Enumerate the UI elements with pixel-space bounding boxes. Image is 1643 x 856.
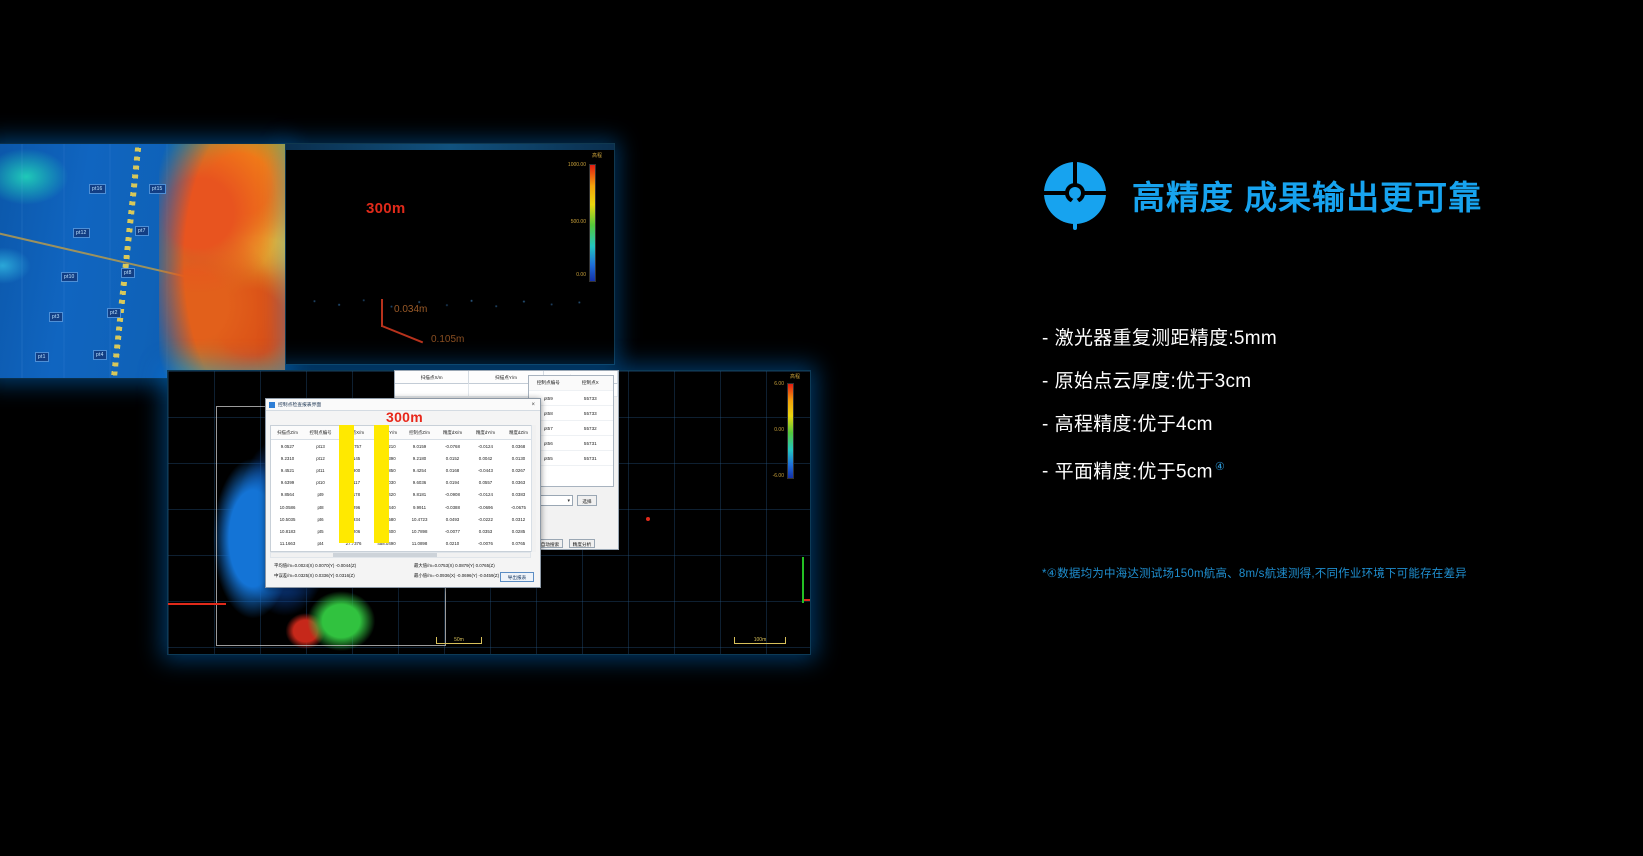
axis-x-red [167,603,226,605]
cell-cp-z: 9.8181 [403,492,436,497]
spec-text: 高程精度:优于4cm [1055,414,1213,435]
cell-cp-z: 10.7898 [403,529,436,534]
pc-label: pt12 [73,228,90,238]
cell-dy: -0.0124 [469,492,502,497]
pc-label: pt4 [93,350,107,360]
th-cp-id: 控制点编号 [304,426,337,439]
cell-dx: -0.0077 [436,529,469,534]
measurement-label-1: 0.034m [394,304,427,315]
cell-dx: 0.0168 [436,468,469,473]
cell-cp-z: 9.6036 [403,480,436,485]
leader-line-vertical [381,299,383,327]
overlay-distance-label: 300m [386,409,423,425]
table-scrollbar-horizontal[interactable] [270,552,531,558]
chevron-down-icon[interactable]: ▾ [567,498,570,504]
workspace-colorbar [787,383,794,479]
close-icon[interactable]: × [531,402,537,408]
stat-median: 中误差/m=0.0325(X) 0.0336(Y) 0.0316(Z) [274,573,355,579]
cell-dx: 0.0194 [436,480,469,485]
cell-cp-z: 11.0898 [403,541,436,546]
cell-dx: -0.0388 [436,505,469,510]
elevation-colorbar [589,164,596,282]
cell-cp-id: pt5 [304,529,337,534]
cp-x: 55731 [568,456,613,461]
list-item[interactable]: pt57 55732 [529,421,613,436]
col-cp-id: 控制点编号 [529,380,568,386]
cell-scan-z: 10.5035 [271,517,304,522]
cp-x: 55731 [568,441,613,446]
cell-scan-z: 10.8183 [271,529,304,534]
th-dx: 精度dX/m [436,426,469,439]
bullet-dash: - [1042,414,1049,435]
scalebar-left: 50m [436,637,482,644]
imagery-cluster: pt16 pt15 pt12 pt7 pt10 pt8 pt3 pt2 pt1 … [0,0,900,856]
content-column: 高精度 成果输出更可靠 -激光器重复测距精度:5mm -原始点云厚度:优于3cm… [1040,0,1600,856]
cell-dx: -0.0908 [436,492,469,497]
slide-root: pt16 pt15 pt12 pt7 pt10 pt8 pt3 pt2 pt1 … [0,0,1643,856]
th-dy: 精度dY/m [469,426,502,439]
spec-text: 原始点云厚度:优于3cm [1055,371,1252,392]
table-row[interactable]: 9.0527 pt13 76.9757 843.1210 9.0159 -0.0… [271,440,535,452]
bullet-dash: - [1042,371,1049,392]
bullet-dash: - [1042,328,1049,349]
list-item[interactable]: pt58 55733 [529,406,613,421]
cell-dy: -0.0222 [469,517,502,522]
cell-dy: 0.0353 [469,529,502,534]
table-row[interactable]: 9.4521 pt11 5.8900 365.2850 9.4254 0.016… [271,464,535,476]
cell-scan-z: 9.6399 [271,480,304,485]
cell-dy: -0.0443 [469,468,502,473]
control-point-report-dialog[interactable]: 控制点检查报表界面 × 300m 扫描点Z/m 控制点编号 控制点X/m 控制点… [265,398,541,588]
workspace-colorbar-title: 高程 [790,373,800,380]
cell-scan-z: 9.8564 [271,492,304,497]
spec-item-cloud-thickness: -原始点云厚度:优于3cm [1042,365,1277,398]
cp-x: 55733 [568,396,613,401]
footnote-marker: ④ [1215,461,1225,473]
pc-label: pt7 [135,226,149,236]
cell-cp-z: 9.4254 [403,468,436,473]
footnote-text: *④数据均为中海达测试场150m航高、8m/s航速测得,不同作业环境下可能存在差… [1042,565,1467,581]
pc-label: pt3 [49,312,63,322]
highlight-column-cp-y [374,425,389,543]
list-item[interactable]: pt56 55731 [529,436,613,451]
highlight-column-cp-x [339,425,354,543]
cell-dx: 0.0210 [436,541,469,546]
cp-x: 55733 [568,411,613,416]
measurement-label-2: 0.105m [431,334,464,345]
terrain-elevation-layer [159,143,286,379]
pc-label: pt1 [35,352,49,362]
cell-scan-z: 11.1663 [271,541,304,546]
th-scan-z: 扫描点Z/m [271,426,304,439]
select-button[interactable]: 选择 [577,495,597,506]
table-scrollbar-vertical[interactable] [531,425,536,552]
col-cp-x: 控制点X [568,380,613,386]
spec-item-laser-range: -激光器重复测距精度:5mm [1042,322,1277,355]
distance-label-300m: 300m [366,200,406,217]
pc-label: pt16 [89,184,106,194]
leader-line-diagonal [382,325,424,343]
bullet-dash: - [1042,461,1049,482]
point-noise-band [296,294,604,312]
accuracy-analysis-button[interactable]: 精度分析 [569,539,595,548]
col-scan-x: 扫描点X/m [395,371,469,384]
table-row[interactable]: 9.2310 pt12 1.4145 354.3390 9.2180 0.015… [271,452,535,464]
cell-dy: 0.0557 [469,480,502,485]
colorbar-tick: 0.00 [576,272,586,278]
cell-cp-z: 9.0159 [403,444,436,449]
spec-item-planar-accuracy: -平面精度:优于5cm④ [1042,451,1277,488]
cell-cp-id: pt13 [304,444,337,449]
spec-item-elevation-accuracy: -高程精度:优于4cm [1042,408,1277,441]
axis-y-green [167,559,168,607]
cell-cp-id: pt12 [304,456,337,461]
workspace-colorbar-tick: 0.00 [774,427,784,433]
axis-y-green-right [802,557,804,603]
header-row: 高精度 成果输出更可靠 [1040,160,1482,230]
cell-dx: -0.0768 [436,444,469,449]
stat-mean: 平均值/m=0.0024(X) 0.0070(Y) -0.0044(Z) [274,563,356,569]
table-header-row: 扫描点Z/m 控制点编号 控制点X/m 控制点Y/m 控制点Z/m 精度dX/m… [271,426,535,440]
pointcloud-overview-panel: pt16 pt15 pt12 pt7 pt10 pt8 pt3 pt2 pt1 … [0,143,286,379]
cell-dy: 0.0042 [469,456,502,461]
panel-titlebar [286,144,614,150]
cell-cp-z: 9.9911 [403,505,436,510]
cell-dy: -0.0124 [469,444,502,449]
cell-scan-z: 9.4521 [271,468,304,473]
table-row[interactable]: 9.8564 pt9 5.1178 387.4420 9.8181 -0.090… [271,489,535,501]
pc-label: pt2 [107,308,121,318]
cp-x: 55732 [568,426,613,431]
table-row[interactable]: 9.6399 pt10 0.2117 376.0030 9.6036 0.019… [271,477,535,489]
list-item[interactable]: pt59 55733 [529,391,613,406]
cell-scan-z: 9.0527 [271,444,304,449]
cell-cp-id: pt8 [304,505,337,510]
cell-dx: 0.0152 [436,456,469,461]
colorbar-tick: 1000.00 [568,162,586,168]
cell-dx: 0.0493 [436,517,469,522]
workspace-colorbar-tick: -6.00 [773,473,784,479]
cell-cp-id: pt9 [304,492,337,497]
cell-cp-id: pt10 [304,480,337,485]
cell-cp-id: pt11 [304,468,337,473]
profile-view-panel: 300m 0.034m 0.105m 高程 1000.00 500.00 0.0… [285,143,615,365]
cell-cp-id: pt4 [304,541,337,546]
cell-cp-z: 9.2180 [403,456,436,461]
spec-list: -激光器重复测距精度:5mm -原始点云厚度:优于3cm -高程精度:优于4cm… [1042,322,1277,498]
workspace-colorbar-tick: 6.00 [774,381,784,387]
app-icon [269,402,275,408]
th-cp-z: 控制点Z/m [403,426,436,439]
spec-text: 激光器重复测距精度:5mm [1055,328,1277,349]
list-item[interactable]: pt55 55731 [529,451,613,466]
cell-cp-z: 10.4723 [403,517,436,522]
table-row[interactable]: 10.8183 pt5 9.9206 441.9400 10.7898 -0.0… [271,525,535,537]
table-row[interactable]: 10.0586 pt8 9.8296 398.3440 9.9911 -0.03… [271,501,535,513]
scalebar-right: 100m [734,637,786,644]
report-table[interactable]: 扫描点Z/m 控制点编号 控制点X/m 控制点Y/m 控制点Z/m 精度dX/m… [270,425,536,552]
pc-label: pt15 [149,184,166,194]
control-point-list-header: 控制点编号 控制点X [529,376,613,391]
colorbar-title: 高程 [592,152,602,159]
page-title: 高精度 成果输出更可靠 [1132,171,1482,219]
cell-dy: -0.0076 [469,541,502,546]
pc-label: pt10 [61,272,78,282]
export-report-button[interactable]: 导出报表 [500,572,534,582]
pc-label: pt8 [121,268,135,278]
dialog-title: 控制点检查报表界面 [278,401,321,408]
cell-cp-id: pt6 [304,517,337,522]
table-row[interactable]: 11.1663 pt4 27.7376 458.0490 11.0898 0.0… [271,538,535,550]
cell-scan-x [395,384,469,396]
cell-scan-z: 9.2310 [271,456,304,461]
cell-dy: -0.0696 [469,505,502,510]
stat-max: 最大值/m=0.0753(X) 0.0879(Y) 0.0765(Z) [414,563,495,569]
cell-scan-z: 10.0586 [271,505,304,510]
marker-point [646,517,650,521]
spec-text: 平面精度:优于5cm [1055,461,1213,482]
precision-target-icon [1040,160,1110,230]
stat-min: 最小值/m=-0.0936(X) -0.0696(Y) -0.0459(Z) [414,573,499,579]
table-row[interactable]: 10.5035 pt6 2.1934 425.6580 10.4723 0.04… [271,513,535,525]
colorbar-tick: 500.00 [571,219,586,225]
axis-x-red-right [803,599,811,601]
